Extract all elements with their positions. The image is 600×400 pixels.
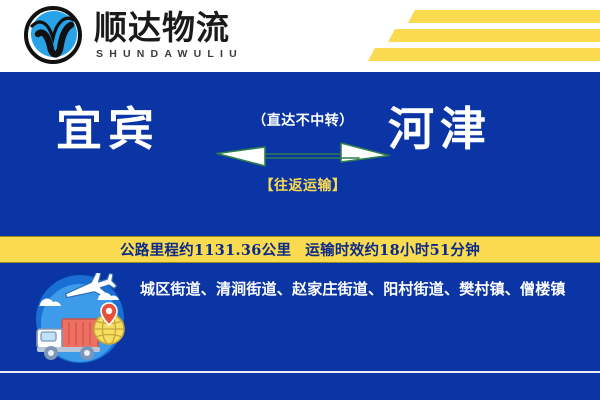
bottom-strip	[0, 373, 600, 400]
metrics-bar: 公路里程约1131.36公里运输时效约18小时51分钟	[0, 236, 600, 263]
destination-city: 河津	[388, 106, 492, 152]
coverage-areas-text: 城区街道、清涧街道、赵家庄街道、阳村街道、樊村镇、僧楼镇	[140, 277, 586, 302]
bidirectional-arrow-icon	[213, 136, 393, 170]
coverage-section: 城区街道、清涧街道、赵家庄街道、阳村街道、樊村镇、僧楼镇	[0, 263, 600, 372]
stripe-1	[408, 10, 600, 23]
origin-city: 宜宾	[56, 106, 160, 152]
direct-route-note: （直达不中转）	[210, 110, 396, 130]
decorative-stripes	[330, 0, 600, 72]
stripe-3	[368, 48, 600, 61]
route-section: 宜宾 （直达不中转） 【往返运输】 河津	[0, 72, 600, 236]
round-trip-note: 【往返运输】	[210, 175, 396, 195]
distance-value: 公路里程约1131.36公里	[120, 242, 291, 259]
stripe-2	[388, 29, 600, 42]
brand-name-en: SHUNDAWULIU	[96, 48, 243, 60]
shunda-circle-w-logo-icon	[22, 4, 84, 66]
duration-value: 运输时效约18小时51分钟	[305, 242, 480, 259]
brand-logo: 顺达物流 SHUNDAWULIU	[22, 4, 243, 66]
logistics-truck-globe-plane-icon	[24, 273, 136, 365]
banner-header: 顺达物流 SHUNDAWULIU	[0, 0, 600, 72]
brand-name-cn: 顺达物流	[94, 10, 243, 46]
route-middle: （直达不中转） 【往返运输】	[210, 110, 396, 195]
brand-text: 顺达物流 SHUNDAWULIU	[94, 10, 243, 61]
metrics-text: 公路里程约1131.36公里运输时效约18小时51分钟	[120, 239, 480, 260]
logistics-route-banner: 顺达物流 SHUNDAWULIU 宜宾 （直达不中转） 【往返运输】	[0, 0, 600, 400]
